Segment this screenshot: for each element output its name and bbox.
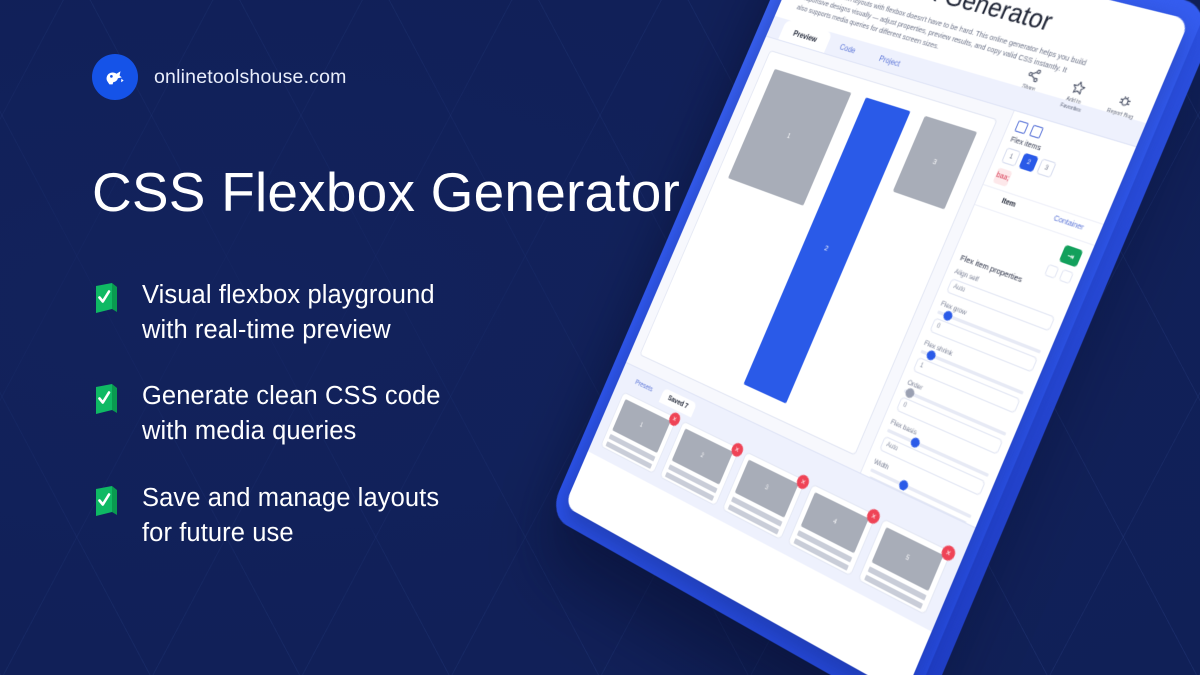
- layout-row-icon[interactable]: [1014, 120, 1029, 134]
- layout-column-icon[interactable]: [1029, 125, 1044, 139]
- flex-item-chip-1[interactable]: 1: [1001, 148, 1021, 167]
- flex-item-chip-3[interactable]: 3: [1036, 159, 1057, 179]
- feature-line-2: for future use: [142, 516, 439, 551]
- delete-card-button[interactable]: ×: [729, 441, 744, 458]
- feature-line-2: with media queries: [142, 414, 441, 449]
- green-check-icon: [92, 282, 120, 316]
- card-lines: [727, 497, 782, 536]
- feature-item: Generate clean CSS code with media queri…: [92, 379, 712, 449]
- feature-item: Save and manage layouts for future use: [92, 481, 712, 551]
- gear-icon[interactable]: [1058, 269, 1074, 284]
- delete-card-button[interactable]: ×: [795, 473, 811, 491]
- trash-icon[interactable]: baa;: [992, 168, 1012, 188]
- green-check-icon: [92, 383, 120, 417]
- card-thumbnail: 4: [801, 493, 869, 554]
- brand-name: onlinetoolshouse.com: [154, 66, 347, 89]
- brand: onlinetoolshouse.com: [92, 54, 712, 100]
- app-mockup: CSS Flexbox Generator Designing modern l…: [640, 0, 1180, 675]
- card-lines: [864, 567, 926, 610]
- card-lines: [794, 531, 853, 572]
- feature-line-1: Generate clean CSS code: [142, 379, 441, 414]
- page-title: CSS Flexbox Generator: [92, 164, 712, 222]
- card-thumbnail: 5: [872, 528, 944, 592]
- toolshouse-logo-icon: [92, 54, 138, 100]
- feature-line-2: with real-time preview: [142, 313, 435, 348]
- feature-line-1: Visual flexbox playground: [142, 278, 435, 313]
- left-content: onlinetoolshouse.com CSS Flexbox Generat…: [92, 54, 712, 551]
- feature-text: Generate clean CSS code with media queri…: [142, 379, 441, 449]
- feature-list: Visual flexbox playground with real-time…: [92, 278, 712, 551]
- feature-item: Visual flexbox playground with real-time…: [92, 278, 712, 348]
- feature-text: Save and manage layouts for future use: [142, 481, 439, 551]
- flex-item-3[interactable]: 3: [893, 116, 977, 210]
- delete-card-button[interactable]: ×: [865, 507, 882, 526]
- green-check-icon: [92, 485, 120, 519]
- flex-item-chip-2[interactable]: 2: [1018, 153, 1038, 173]
- copy-icon[interactable]: ⇥: [1059, 245, 1084, 268]
- delete-card-button[interactable]: ×: [939, 544, 957, 564]
- feature-line-1: Save and manage layouts: [142, 481, 439, 516]
- feature-text: Visual flexbox playground with real-time…: [142, 278, 435, 348]
